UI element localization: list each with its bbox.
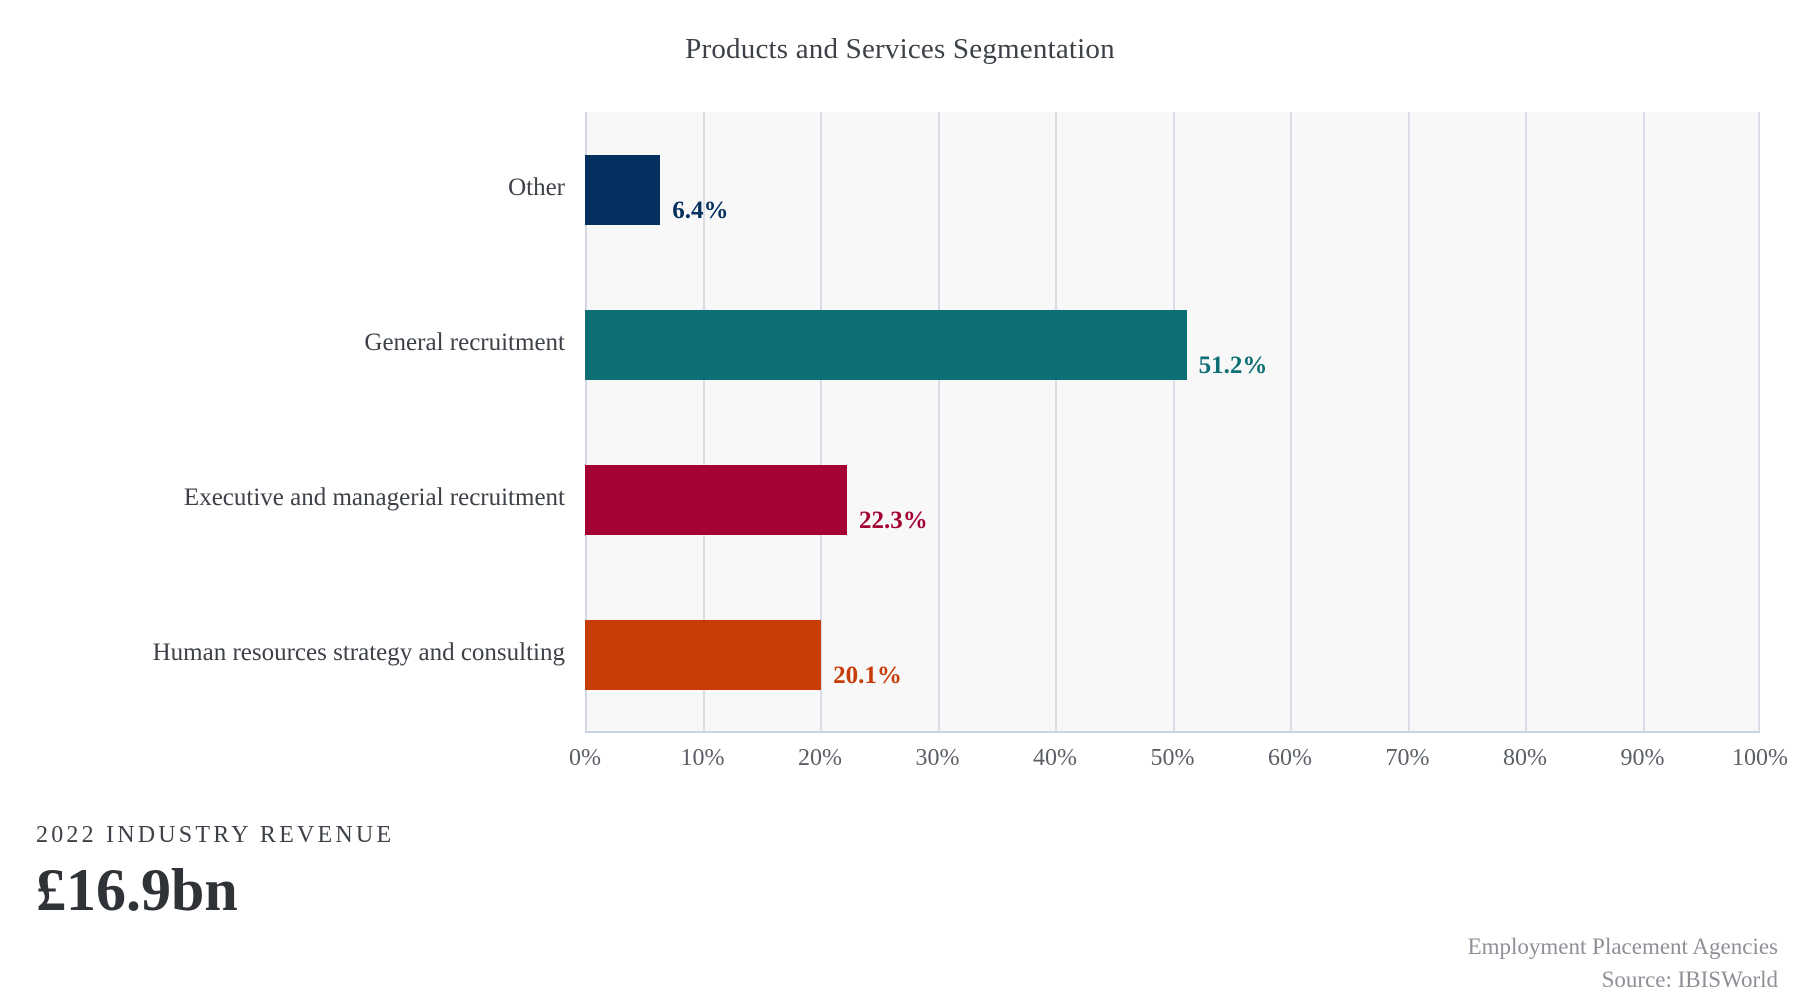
industry-revenue-value: £16.9bn — [36, 859, 394, 922]
gridline-70pct — [1408, 112, 1410, 731]
category-label: Executive and managerial recruitment — [25, 484, 565, 512]
bar-value-label: 22.3% — [859, 507, 928, 535]
gridline-40pct — [1055, 112, 1057, 731]
bar-value-label: 6.4% — [672, 197, 728, 225]
x-axis-tick-label: 80% — [1465, 745, 1585, 772]
category-label: General recruitment — [25, 329, 565, 357]
x-axis-tick-label: 60% — [1230, 745, 1350, 772]
x-axis-tick-label: 30% — [878, 745, 998, 772]
gridline-30pct — [938, 112, 940, 731]
source-label: Source: IBISWorld — [1468, 963, 1778, 996]
industry-revenue-caption: 2022 INDUSTRY REVENUE — [36, 822, 394, 849]
gridline-60pct — [1290, 112, 1292, 731]
page-title: Products and Services Segmentation — [0, 33, 1800, 66]
bar-value-label: 20.1% — [833, 662, 902, 690]
x-axis-tick-label: 0% — [525, 745, 645, 772]
plot-area — [585, 112, 1760, 733]
x-axis-tick-label: 40% — [995, 745, 1115, 772]
category-label: Human resources strategy and consulting — [25, 639, 565, 667]
x-axis-tick-label: 100% — [1700, 745, 1800, 772]
category-label: Other — [25, 174, 565, 202]
x-axis-tick-label: 20% — [760, 745, 880, 772]
x-axis-tick-label: 70% — [1348, 745, 1468, 772]
gridline-100pct — [1758, 112, 1760, 731]
x-axis-tick-label: 10% — [643, 745, 763, 772]
x-axis-tick-label: 90% — [1583, 745, 1703, 772]
bar-human-resources-strategy-and-consulting[interactable] — [585, 620, 821, 690]
bar-general-recruitment[interactable] — [585, 310, 1187, 380]
gridline-80pct — [1525, 112, 1527, 731]
bar-executive-and-managerial-recruitment[interactable] — [585, 465, 847, 535]
industry-name: Employment Placement Agencies — [1468, 930, 1778, 963]
source-attribution: Employment Placement Agencies Source: IB… — [1468, 930, 1778, 997]
bar-other[interactable] — [585, 155, 660, 225]
bar-value-label: 51.2% — [1199, 352, 1268, 380]
gridline-90pct — [1643, 112, 1645, 731]
x-axis-tick-label: 50% — [1113, 745, 1233, 772]
gridline-50pct — [1173, 112, 1175, 731]
industry-revenue-block: 2022 INDUSTRY REVENUE £16.9bn — [36, 822, 394, 922]
